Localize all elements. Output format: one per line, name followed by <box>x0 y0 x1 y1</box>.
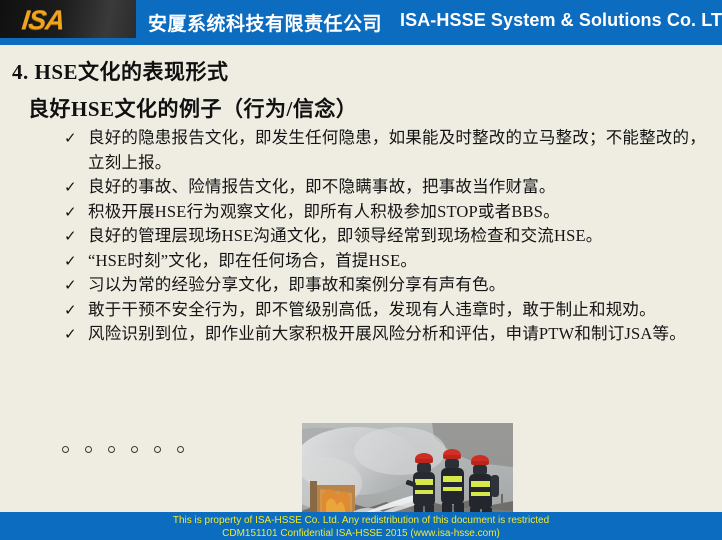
trailing-dot <box>177 446 184 453</box>
bullet-item: ✓习以为常的经验分享文化，即事故和案例分享有声有色。 <box>62 273 710 298</box>
check-icon: ✓ <box>64 322 77 347</box>
footer-copyright-line: This is property of ISA-HSSE Co. Ltd. An… <box>0 512 722 527</box>
footer-bar: This is property of ISA-HSSE Co. Ltd. An… <box>0 512 722 540</box>
isa-logo: ISA <box>20 5 65 36</box>
bullet-item: ✓良好的管理层现场HSE沟通文化，即领导经常到现场检查和交流HSE。 <box>62 224 710 249</box>
check-icon: ✓ <box>64 273 77 298</box>
check-icon: ✓ <box>64 175 77 200</box>
bullet-text: “HSE时刻”文化，即在任何场合，首提HSE。 <box>88 249 710 274</box>
bullet-list: ✓良好的隐患报告文化，即发生任何隐患，如果能及时整改的立马整改；不能整改的，立刻… <box>62 126 710 347</box>
bullet-item: ✓积极开展HSE行为观察文化，即所有人积极参加STOP或者BBS。 <box>62 200 710 225</box>
check-icon: ✓ <box>64 200 77 225</box>
trailing-dot <box>131 446 138 453</box>
bullet-item: ✓良好的事故、险情报告文化，即不隐瞒事故，把事故当作财富。 <box>62 175 710 200</box>
bullet-text: 习以为常的经验分享文化，即事故和案例分享有声有色。 <box>88 273 710 298</box>
logo-panel: ISA <box>0 0 136 45</box>
bullet-text: 良好的管理层现场HSE沟通文化，即领导经常到现场检查和交流HSE。 <box>88 224 710 249</box>
bullet-text: 良好的隐患报告文化，即发生任何隐患，如果能及时整改的立马整改；不能整改的，立刻上… <box>88 126 710 175</box>
company-name-en: ISA-HSSE System & Solutions Co. LTD <box>400 10 722 31</box>
slide-canvas: ISA 安厦系统科技有限责任公司 ISA-HSSE System & Solut… <box>0 0 722 540</box>
check-icon: ✓ <box>64 126 77 151</box>
header-bar: ISA 安厦系统科技有限责任公司 ISA-HSSE System & Solut… <box>0 0 722 45</box>
bullet-text: 积极开展HSE行为观察文化，即所有人积极参加STOP或者BBS。 <box>88 200 710 225</box>
bullet-text: 敢于干预不安全行为，即不管级别高低，发现有人违章时，敢于制止和规劝。 <box>88 298 710 323</box>
trailing-dot-row <box>62 438 262 460</box>
slide-content: 4. HSE文化的表现形式 良好HSE文化的例子（行为/信念） ✓良好的隐患报告… <box>0 45 722 512</box>
page-subtitle: 良好HSE文化的例子（行为/信念） <box>28 93 357 123</box>
check-icon: ✓ <box>64 249 77 274</box>
bullet-item: ✓风险识别到位，即作业前大家积极开展风险分析和评估，申请PTW和制订JSA等。 <box>62 322 710 347</box>
bullet-text: 良好的事故、险情报告文化，即不隐瞒事故，把事故当作财富。 <box>88 175 710 200</box>
bullet-item: ✓敢于干预不安全行为，即不管级别高低，发现有人违章时，敢于制止和规劝。 <box>62 298 710 323</box>
footer-confidential-line: CDM151101 Confidential ISA-HSSE 2015 (ww… <box>0 527 722 540</box>
bullet-text: 风险识别到位，即作业前大家积极开展风险分析和评估，申请PTW和制订JSA等。 <box>88 322 710 347</box>
check-icon: ✓ <box>64 298 77 323</box>
trailing-dot <box>85 446 92 453</box>
bullet-item: ✓良好的隐患报告文化，即发生任何隐患，如果能及时整改的立马整改；不能整改的，立刻… <box>62 126 710 175</box>
company-name-cn: 安厦系统科技有限责任公司 <box>148 9 382 36</box>
check-icon: ✓ <box>64 224 77 249</box>
page-title: 4. HSE文化的表现形式 <box>12 56 229 86</box>
trailing-dot <box>108 446 115 453</box>
bullet-item: ✓“HSE时刻”文化，即在任何场合，首提HSE。 <box>62 249 710 274</box>
trailing-dot <box>154 446 161 453</box>
trailing-dot <box>62 446 69 453</box>
